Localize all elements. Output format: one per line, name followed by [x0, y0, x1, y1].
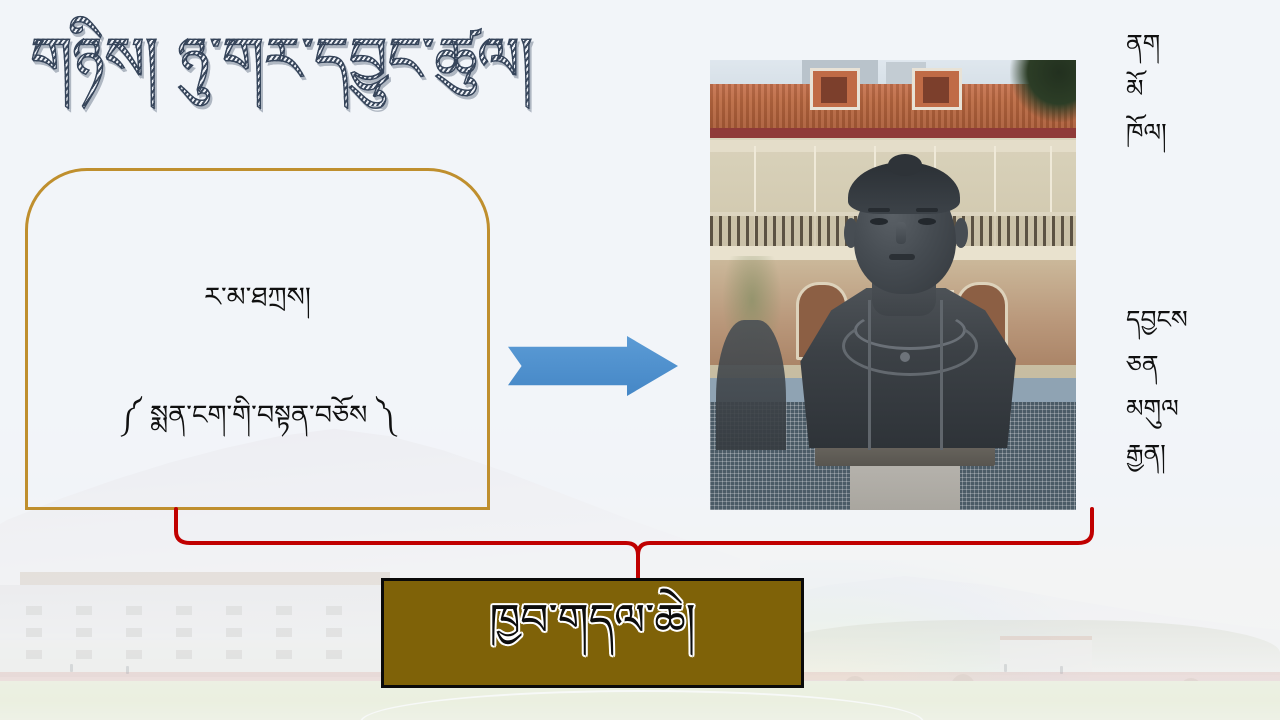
- conclusion-text: ཁྱབ་གདལ་ཆེ།: [489, 571, 695, 695]
- slide-canvas: གཉིས། ཉུ་གར་དབྱུང་ཚུལ། ར་མ་ཐཀྲས། ༼ སྨན་ང…: [0, 0, 1280, 720]
- label-col2-item-0: དབྱངས: [1126, 298, 1188, 343]
- photo-bronze-bust: [796, 160, 1016, 448]
- label-column-1: ནག མོ ཁོལ།: [1126, 22, 1167, 156]
- source-text-callout: ར་མ་ཐཀྲས། ༼ སྨན་ངག་གི་བསྟན་བཅོས ༽: [25, 168, 490, 510]
- label-column-2: དབྱངས ཅན མགུལ རྒྱན།: [1126, 298, 1188, 476]
- page-title: གཉིས། ཉུ་གར་དབྱུང་ཚུལ།: [30, 14, 590, 106]
- photo-foliage: [1010, 60, 1076, 122]
- label-col1-item-2: ཁོལ།: [1126, 111, 1167, 156]
- label-col2-item-3: རྒྱན།: [1126, 432, 1188, 477]
- label-col2-item-1: ཅན: [1126, 343, 1188, 388]
- bust-photograph: [710, 60, 1076, 510]
- label-col2-item-2: མགུལ: [1126, 387, 1188, 432]
- callout-line-1: ར་མ་ཐཀྲས།: [28, 267, 487, 343]
- callout-line-2: ༼ སྨན་ངག་གི་བསྟན་བཅོས ༽: [28, 385, 487, 461]
- conclusion-box: ཁྱབ་གདལ་ཆེ།: [381, 578, 804, 688]
- photo-pedestal: [850, 460, 960, 510]
- label-col1-item-1: མོ: [1126, 67, 1167, 112]
- label-col1-item-0: ནག: [1126, 22, 1167, 67]
